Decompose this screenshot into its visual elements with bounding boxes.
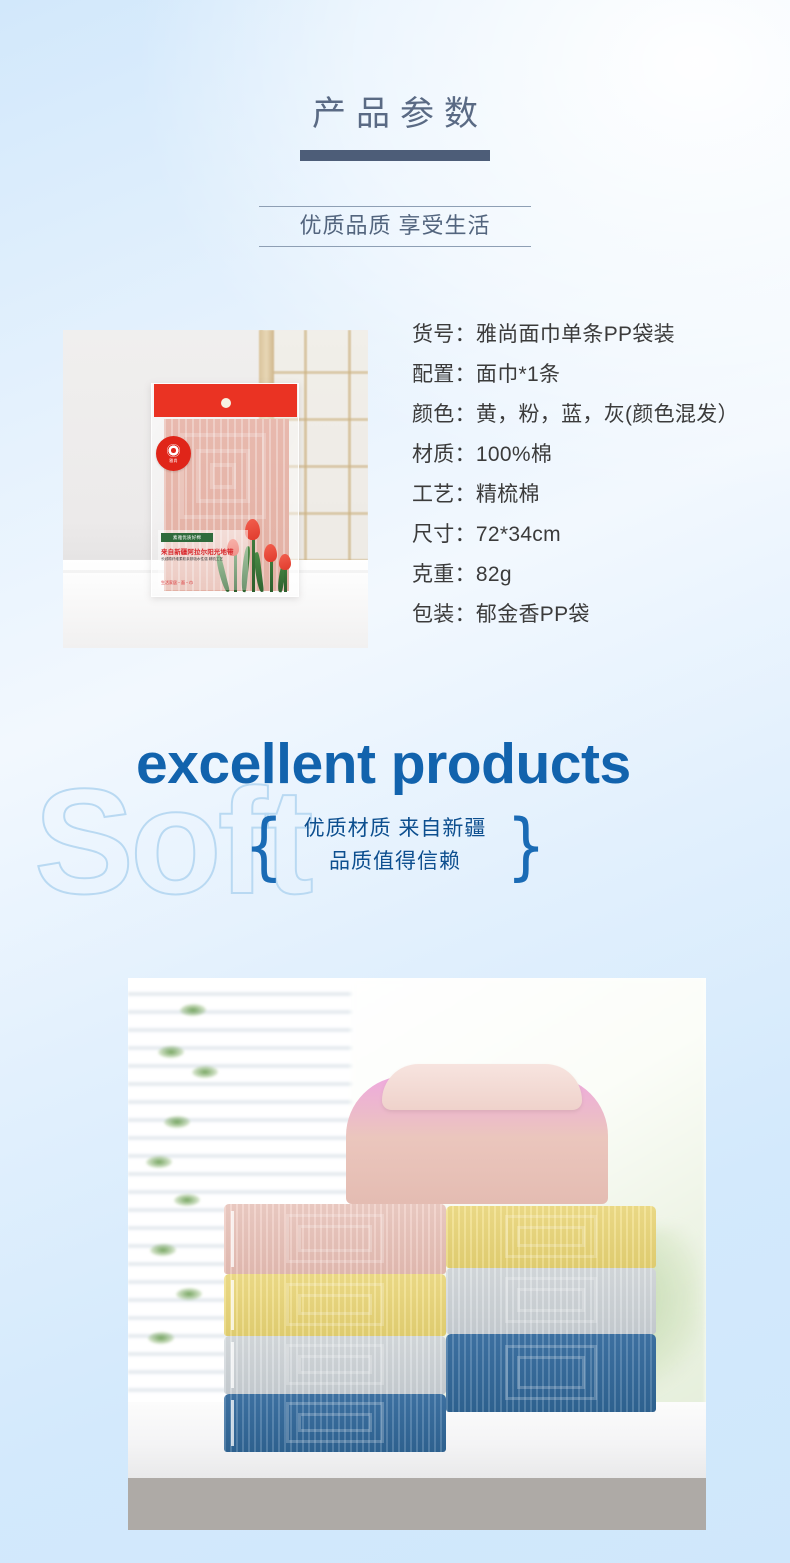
spec-label: 货号： (412, 323, 476, 346)
slogan-line-2: 品质值得信赖 (304, 846, 487, 879)
bag-header-card (154, 384, 297, 417)
spec-row: 工艺：精梳棉 (412, 474, 739, 514)
towel-white-stripe (231, 1211, 234, 1267)
subtitle-container: 优质品质 享受生活 (259, 206, 531, 247)
spec-label: 工艺： (412, 483, 476, 506)
package-green-label: 素雅优质好棉 (161, 533, 213, 542)
tulip-stem (252, 536, 255, 592)
tulip-leaf (253, 552, 264, 592)
spec-value: 雅尚面巾单条PP袋装 (476, 323, 675, 346)
package-red-title: 来自新疆阿拉尔阳光地带 (161, 546, 234, 556)
page-subtitle: 优质品质 享受生活 (259, 212, 531, 240)
package-label: 素雅优质好棉 来自新疆阿拉尔阳光地带 长绒棉纤维柔软亲肤吸水性强 精梳工艺 生活… (158, 530, 248, 590)
towel-pink-front (224, 1204, 446, 1274)
slogan-line-1: 优质材质 来自新疆 (304, 813, 487, 846)
towel-pattern (286, 1214, 384, 1263)
spec-row: 包装：郁金香PP袋 (412, 594, 739, 634)
brand-badge-name: 雅尚 (169, 458, 177, 464)
spec-value: 郁金香PP袋 (476, 603, 590, 626)
spec-label: 材质： (412, 443, 476, 466)
brace-right-icon: } (506, 809, 545, 882)
package-photo: 雅尚 素雅优质好棉 来自新疆阿拉尔阳光地带 (63, 330, 368, 648)
towel-fold-flap (382, 1064, 582, 1110)
table-surface-band (128, 1478, 706, 1530)
towel-yellow-back (446, 1206, 656, 1268)
page-header: 产品参数 优质品质 享受生活 (0, 0, 790, 247)
towel-white-stripe (231, 1342, 234, 1388)
title-underline-bar (300, 150, 490, 161)
package-bottom-print: 生活家居・面・巾 (161, 580, 193, 586)
spec-label: 颜色： (412, 403, 476, 426)
spec-label: 尺寸： (412, 523, 476, 546)
towel-pink-folded-top (346, 1076, 608, 1204)
towel-pattern (286, 1344, 384, 1385)
tulip-stem (270, 558, 273, 592)
spec-value: 面巾*1条 (476, 363, 560, 386)
spec-row: 颜色：黄，粉，蓝，灰(颜色混发） (412, 394, 739, 434)
towel-stack-photo (128, 978, 706, 1530)
towel-blue-front (224, 1394, 446, 1452)
towel-gray-front (224, 1336, 446, 1394)
brace-left-icon: { (244, 809, 283, 882)
spec-value: 100%棉 (476, 443, 552, 466)
towel-pattern (286, 1283, 384, 1326)
spec-list: 货号：雅尚面巾单条PP袋装 配置：面巾*1条 颜色：黄，粉，蓝，灰(颜色混发） … (412, 314, 739, 634)
product-poly-bag: 雅尚 素雅优质好棉 来自新疆阿拉尔阳光地带 (151, 383, 299, 597)
tulip-bloom (264, 544, 277, 562)
towel-pattern (505, 1345, 597, 1400)
towel-gray-back (446, 1268, 656, 1334)
towel-white-stripe (231, 1400, 234, 1446)
spec-label: 克重： (412, 563, 476, 586)
spec-row: 克重：82g (412, 554, 739, 594)
towel-pattern (505, 1277, 597, 1323)
spec-row: 配置：面巾*1条 (412, 354, 739, 394)
page-title: 产品参数 (0, 0, 790, 131)
excellent-products-section: Soft excellent products { 优质材质 来自新疆 品质值得… (0, 700, 790, 940)
slogan-block: { 优质材质 来自新疆 品质值得信赖 } (0, 813, 790, 878)
package-green-label-text: 素雅优质好棉 (161, 533, 213, 542)
spec-row: 材质：100%棉 (412, 434, 739, 474)
towel-white-stripe (231, 1280, 234, 1330)
spec-value: 黄，粉，蓝，灰(颜色混发） (476, 403, 739, 426)
spec-section: 雅尚 素雅优质好棉 来自新疆阿拉尔阳光地带 (0, 330, 790, 650)
brand-flower-icon (167, 444, 180, 457)
spec-row: 尺寸：72*34cm (412, 514, 739, 554)
package-fine-print: 长绒棉纤维柔软亲肤吸水性强 精梳工艺 (161, 557, 245, 562)
towel-pattern (505, 1215, 597, 1258)
spec-label: 包装： (412, 603, 476, 626)
towel-yellow-front (224, 1274, 446, 1336)
towel-pattern (286, 1402, 384, 1443)
spec-value: 82g (476, 563, 512, 586)
tulip-bloom (279, 554, 291, 570)
spec-row: 货号：雅尚面巾单条PP袋装 (412, 314, 739, 354)
spec-label: 配置： (412, 363, 476, 386)
slogan-lines: 优质材质 来自新疆 品质值得信赖 (304, 813, 487, 878)
towel-blue-back (446, 1334, 656, 1412)
spec-value: 精梳棉 (476, 483, 540, 506)
spec-value: 72*34cm (476, 523, 561, 546)
brand-badge: 雅尚 (156, 436, 191, 471)
excellent-heading: excellent products (136, 736, 631, 793)
